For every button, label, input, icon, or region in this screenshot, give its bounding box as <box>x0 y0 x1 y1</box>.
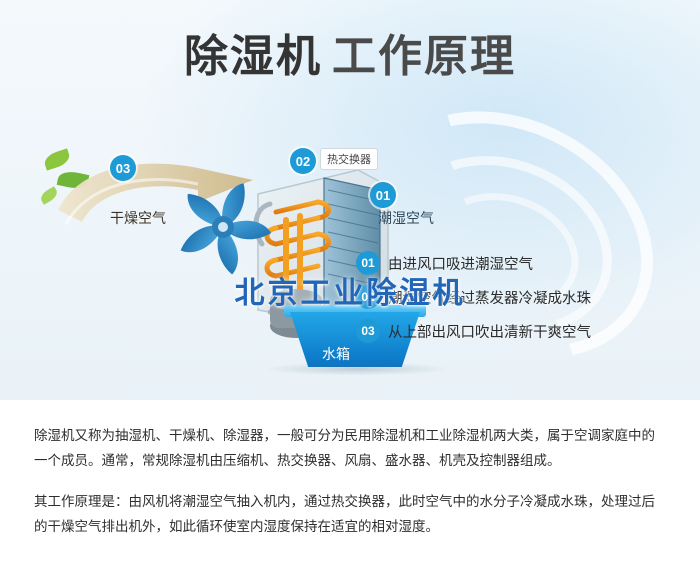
step-list: 01 由进风口吸进潮湿空气 02 潮湿空气经过蒸发器冷凝成水珠 03 从上部出风… <box>356 246 676 348</box>
paragraph-2: 其工作原理是：由风机将潮湿空气抽入机内，通过热交换器，此时空气中的水分子冷凝成水… <box>34 490 666 540</box>
step-number: 01 <box>356 251 380 275</box>
step-number: 02 <box>356 285 380 309</box>
machine-shadow <box>232 360 482 378</box>
label-water-tank: 水箱 <box>322 344 350 364</box>
label-dry-air: 干燥空气 <box>110 208 166 228</box>
hero-illustration-panel: 除湿机工作原理 <box>0 0 700 400</box>
list-item: 03 从上部出风口吹出清新干爽空气 <box>356 314 676 348</box>
badge-step-02: 02 <box>290 148 316 174</box>
step-text: 从上部出风口吹出清新干爽空气 <box>388 321 591 342</box>
step-text: 由进风口吸进潮湿空气 <box>388 253 533 274</box>
list-item: 01 由进风口吸进潮湿空气 <box>356 246 676 280</box>
badge-step-01: 01 <box>370 182 396 208</box>
step-text: 潮湿空气经过蒸发器冷凝成水珠 <box>388 287 591 308</box>
description-section: 除湿机又称为抽湿机、干燥机、除湿器，一般可分为民用除湿机和工业除湿机两大类，属于… <box>0 400 700 566</box>
label-heat-exchanger: 热交换器 <box>320 148 378 170</box>
paragraph-1: 除湿机又称为抽湿机、干燥机、除湿器，一般可分为民用除湿机和工业除湿机两大类，属于… <box>34 424 666 474</box>
page-root: 除湿机工作原理 <box>0 0 700 566</box>
list-item: 02 潮湿空气经过蒸发器冷凝成水珠 <box>356 280 676 314</box>
step-number: 03 <box>356 319 380 343</box>
label-humid-air: 潮湿空气 <box>378 208 434 228</box>
hero-title-part2: 工作原理 <box>332 31 516 82</box>
hero-title-part1: 除湿机 <box>184 31 322 82</box>
badge-step-03-left: 03 <box>110 155 136 181</box>
fan-icon <box>168 172 278 282</box>
hero-title: 除湿机工作原理 <box>0 30 700 84</box>
